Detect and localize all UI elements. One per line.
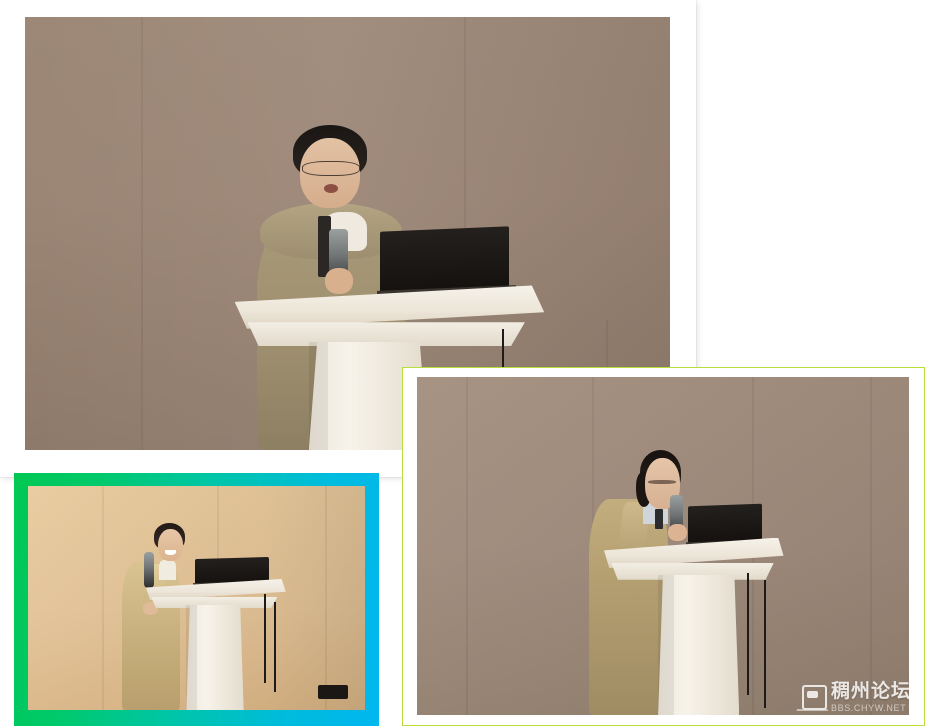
photo-card-bottom-right-speaker[interactable]: 稠州论坛 BBS.CHYW.NET — [402, 367, 925, 726]
speaker-hand — [325, 268, 353, 294]
speaker-face — [158, 529, 183, 561]
wall-seam — [141, 17, 143, 450]
podium-front-edge — [309, 342, 328, 450]
speaker-hand — [668, 524, 687, 541]
laptop-screen — [380, 226, 509, 294]
microphone — [144, 552, 153, 588]
speaker-tie — [655, 509, 664, 529]
speaker-eyes — [648, 480, 676, 484]
laptop-screen — [688, 504, 762, 544]
speaker-shirt — [159, 560, 176, 580]
speaker-glasses — [302, 161, 359, 176]
floor-equipment-box — [318, 685, 348, 698]
podium-front-edge — [658, 575, 674, 715]
wall-seam — [102, 486, 104, 710]
photo-card-bottom-left-speaker[interactable] — [14, 473, 379, 726]
speaker-mouth — [324, 184, 338, 193]
photo-collage-stage: 稠州论坛 BBS.CHYW.NET — [0, 0, 925, 726]
wall-seam — [870, 377, 872, 715]
wall-seam — [466, 377, 468, 715]
photo-image-bottom-right-speaker[interactable]: 稠州论坛 BBS.CHYW.NET — [417, 377, 909, 715]
wall-seam — [325, 486, 327, 710]
photo-image-bottom-left-speaker[interactable] — [28, 486, 365, 710]
podium-front-edge — [186, 605, 197, 710]
